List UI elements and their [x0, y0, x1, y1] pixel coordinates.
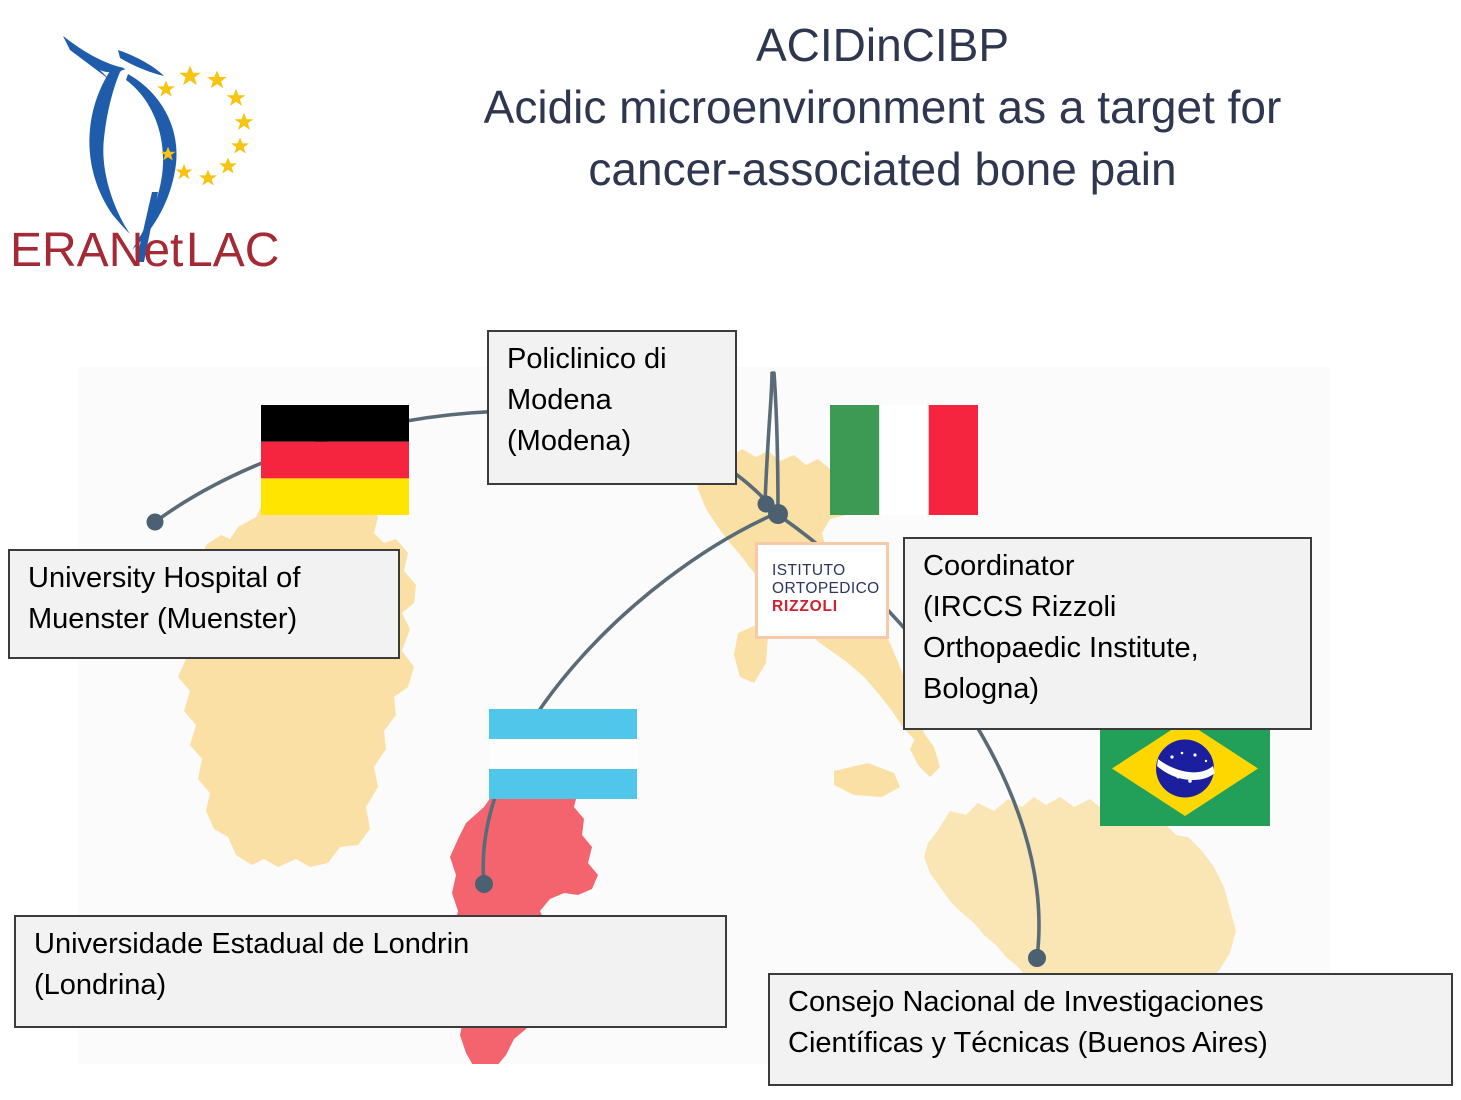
argentina-flag-band-bottom	[489, 769, 637, 799]
page-title: ACIDinCIBP Acidic microenvironment as a …	[345, 14, 1420, 200]
germany-flag	[261, 405, 409, 515]
logo-arrow-right	[118, 50, 164, 76]
logo-text-eranet: ERANet	[10, 224, 183, 276]
buenos-aires-node	[475, 875, 493, 893]
argentina-flag-band-white	[489, 739, 637, 769]
muenster-node	[147, 514, 164, 531]
londrina-node	[1028, 949, 1046, 967]
argentina-flag	[489, 709, 637, 799]
title-line-2: Acidic microenvironment as a target for	[345, 76, 1420, 138]
logo-text-lac: LAC	[186, 224, 279, 276]
sicily-shape	[834, 763, 900, 797]
callout-university-hospital-muenster: University Hospital of Muenster (Muenste…	[8, 549, 400, 659]
rizzoli-line-1: ISTITUTO	[772, 562, 886, 580]
italy-flag	[830, 405, 978, 515]
title-line-1: ACIDinCIBP	[345, 14, 1420, 76]
argentina-flag-band-top	[489, 709, 637, 739]
italy-calabria	[910, 733, 940, 777]
germany-flag-band-black	[261, 405, 409, 442]
bologna-node	[768, 504, 788, 524]
callout-policlinico-modena: Policlinico di Modena (Modena)	[487, 330, 737, 485]
title-line-3: cancer-associated bone pain	[345, 138, 1420, 200]
eranet-lac-logo: ERANet LAC	[8, 14, 308, 276]
callout-conicet-buenos-aires: Consejo Nacional de Investigaciones Cien…	[768, 973, 1453, 1086]
italy-flag-band-green	[830, 405, 879, 515]
germany-flag-band-red	[261, 442, 409, 479]
presentation-slide: ERANet LAC ACIDinCIBP Acidic microenviro…	[0, 0, 1461, 1100]
germany-shape	[168, 491, 416, 867]
callout-universidade-estadual-londrina: Universidade Estadual de Londrin (Londri…	[14, 915, 727, 1028]
rizzoli-line-2: ORTOPEDICO	[772, 580, 886, 598]
logo-body-left	[89, 68, 130, 234]
callout-coordinator-rizzoli: Coordinator (IRCCS Rizzoli Orthopaedic I…	[903, 537, 1312, 730]
italy-flag-band-red	[929, 405, 978, 515]
germany-flag-band-gold	[261, 478, 409, 515]
rizzoli-logo: ISTITUTO ORTOPEDICO RIZZOLI	[755, 542, 889, 639]
italy-flag-band-white	[879, 405, 928, 515]
rizzoli-line-3: RIZZOLI	[772, 598, 886, 616]
